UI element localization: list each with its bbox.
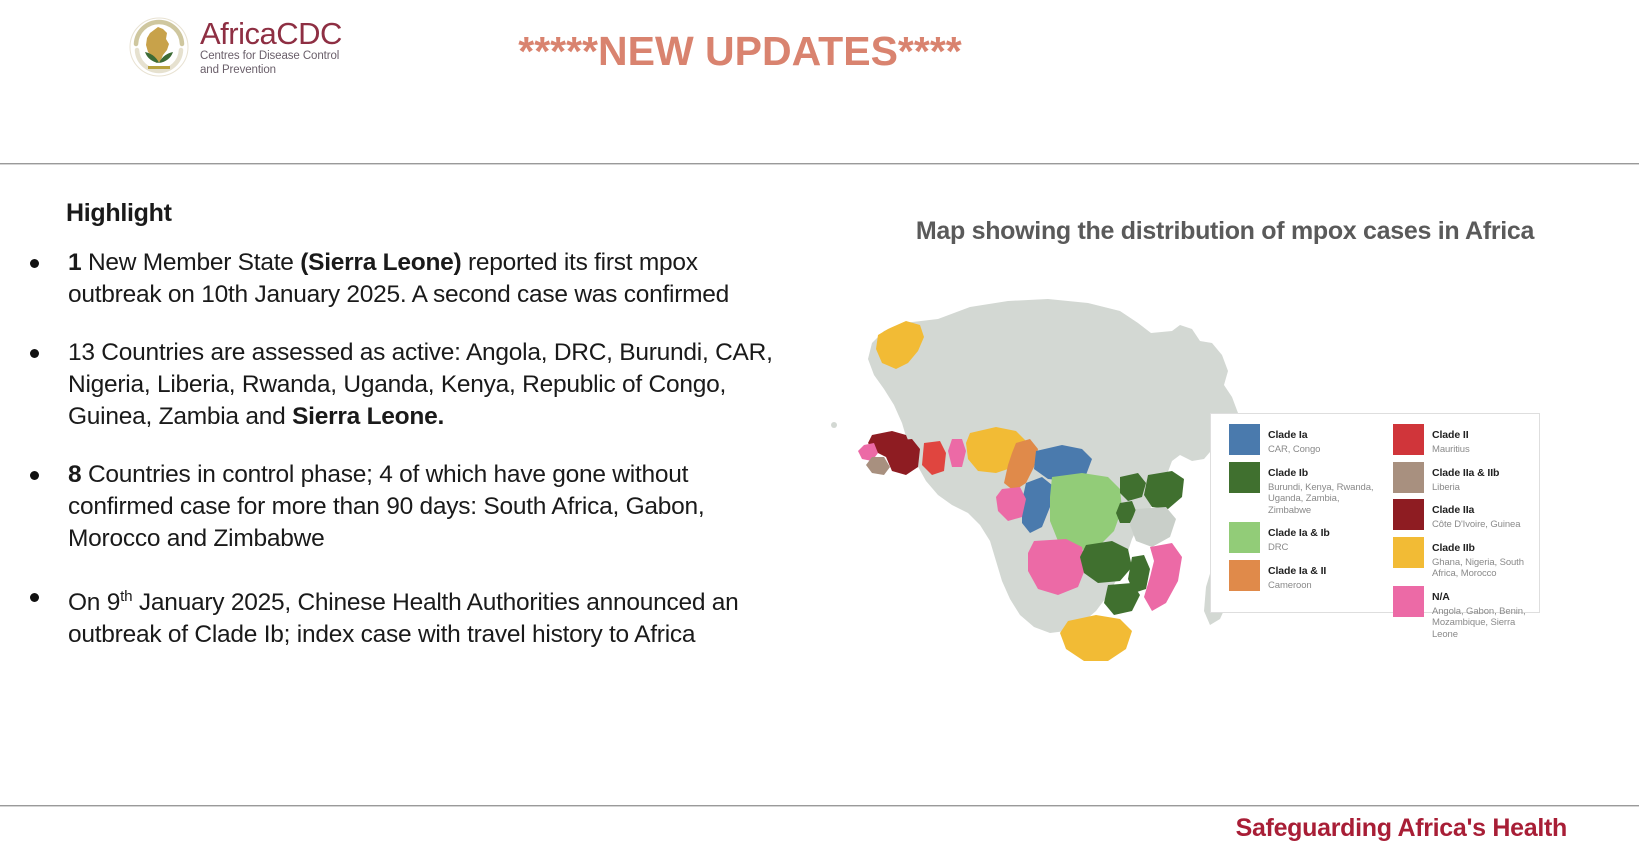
legend-item-clade-iia: Clade IIa Côte D'Ivoire, Guinea: [1393, 499, 1539, 531]
legend-swatch-icon: [1393, 424, 1424, 455]
legend-label: Clade IIa & IIb: [1432, 467, 1499, 479]
legend-column-left: Clade Ia CAR, Congo Clade Ib Burundi, Ke…: [1211, 424, 1375, 612]
legend-item-clade-ia-ib: Clade Ia & Ib DRC: [1229, 522, 1375, 554]
legend-countries: Liberia: [1432, 482, 1499, 494]
legend-column-right: Clade II Mauritius Clade IIa & IIb Liber…: [1375, 424, 1539, 612]
legend-item-clade-iib: Clade IIb Ghana, Nigeria, South Africa, …: [1393, 537, 1539, 580]
region-mozambique: [1144, 543, 1182, 611]
region-zimbabwe: [1104, 583, 1140, 615]
region-angola: [1028, 539, 1086, 595]
legend-item-clade-ia-ii: Clade Ia & II Cameroon: [1229, 560, 1375, 592]
legend-label: Clade Ia: [1268, 429, 1307, 441]
list-item: On 9th January 2025, Chinese Health Auth…: [24, 581, 794, 651]
map-legend: Clade Ia CAR, Congo Clade Ib Burundi, Ke…: [1210, 413, 1540, 613]
list-item: 8 Countries in control phase; 4 of which…: [24, 459, 794, 555]
region-kenya: [1144, 471, 1184, 509]
header-divider: [0, 163, 1639, 165]
region-south-africa: [1060, 615, 1132, 661]
legend-label: Clade IIa: [1432, 504, 1474, 516]
legend-label: Clade II: [1432, 429, 1469, 441]
legend-label: Clade Ia & II: [1268, 565, 1326, 577]
legend-swatch-icon: [1393, 499, 1424, 530]
highlight-heading: Highlight: [66, 199, 172, 228]
legend-item-clade-iia-iib: Clade IIa & IIb Liberia: [1393, 462, 1539, 494]
page-title: *****NEW UPDATES****: [0, 28, 1480, 75]
page-header: AfricaCDC Centres for Disease Control an…: [0, 0, 1639, 165]
legend-swatch-icon: [1393, 537, 1424, 568]
legend-swatch-icon: [1229, 424, 1260, 455]
island-cape-verde: [831, 422, 837, 428]
region-tanzania: [1130, 507, 1176, 547]
legend-countries: Mauritius: [1432, 444, 1470, 456]
legend-label: N/A: [1432, 591, 1450, 603]
legend-countries: DRC: [1268, 542, 1330, 554]
legend-countries: Angola, Gabon, Benin, Mozambique, Sierra…: [1432, 606, 1539, 641]
legend-swatch-icon: [1229, 522, 1260, 553]
list-item: 13 Countries are assessed as active: Ang…: [24, 337, 794, 433]
region-cote-divoire: [886, 439, 920, 475]
map-section: Map showing the distribution of mpox cas…: [820, 185, 1639, 805]
legend-label: Clade Ib: [1268, 467, 1308, 479]
map-title: Map showing the distribution of mpox cas…: [875, 214, 1575, 248]
legend-label: Clade IIb: [1432, 542, 1475, 554]
footer-tagline: Safeguarding Africa's Health: [1236, 814, 1567, 843]
legend-swatch-icon: [1229, 560, 1260, 591]
legend-item-clade-ii: Clade II Mauritius: [1393, 424, 1539, 456]
island-sao-tome: [989, 486, 995, 492]
legend-countries: Côte D'Ivoire, Guinea: [1432, 519, 1520, 531]
legend-label: Clade Ia & Ib: [1268, 527, 1330, 539]
legend-item-na: N/A Angola, Gabon, Benin, Mozambique, Si…: [1393, 586, 1539, 641]
legend-swatch-icon: [1393, 586, 1424, 617]
legend-countries: CAR, Congo: [1268, 444, 1320, 456]
list-item: 1 New Member State (Sierra Leone) report…: [24, 247, 794, 311]
legend-swatch-icon: [1393, 462, 1424, 493]
legend-countries: Burundi, Kenya, Rwanda, Uganda, Zambia, …: [1268, 482, 1375, 517]
legend-item-clade-ib: Clade Ib Burundi, Kenya, Rwanda, Uganda,…: [1229, 462, 1375, 517]
legend-item-clade-ia: Clade Ia CAR, Congo: [1229, 424, 1375, 456]
footer-divider: [0, 805, 1639, 807]
highlight-bullet-list: 1 New Member State (Sierra Leone) report…: [24, 247, 794, 677]
legend-swatch-icon: [1229, 462, 1260, 493]
legend-countries: Cameroon: [1268, 580, 1326, 592]
legend-countries: Ghana, Nigeria, South Africa, Morocco: [1432, 557, 1539, 580]
